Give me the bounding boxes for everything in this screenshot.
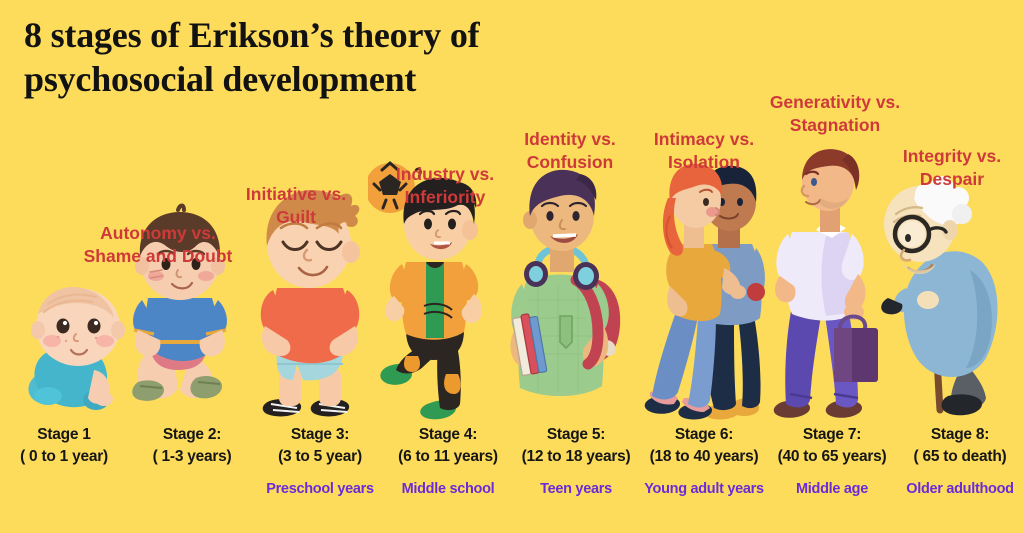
crisis-label-stage-5: Identity vs. Confusion — [500, 128, 640, 174]
stage-label-6: Stage 6: — [640, 424, 768, 446]
stage-age-2: ( 1-3 years) — [128, 446, 256, 468]
stage-cell-4: Stage 4: (6 to 11 years) — [384, 424, 512, 469]
figure-stage-3 — [247, 120, 375, 420]
stage-cell-5: Stage 5: (12 to 18 years) — [512, 424, 640, 469]
stage-label-3: Stage 3: — [256, 424, 384, 446]
stage-label-7: Stage 7: — [768, 424, 896, 446]
stage-label-5: Stage 5: — [512, 424, 640, 446]
stage-age-5: (12 to 18 years) — [512, 446, 640, 468]
figure-stage-2 — [118, 120, 246, 420]
stage-label-2: Stage 2: — [128, 424, 256, 446]
period-label-8: Older adulthood — [896, 480, 1024, 499]
period-label-5: Teen years — [512, 480, 640, 499]
figure-stage-1 — [8, 120, 136, 420]
middle-aged-man-icon — [768, 120, 896, 420]
stage-age-8: ( 65 to death) — [896, 446, 1024, 468]
stage-cell-3: Stage 3: (3 to 5 year) — [256, 424, 384, 469]
page-title: 8 stages of Erikson’s theory of psychoso… — [24, 14, 664, 102]
crawling-baby-icon — [8, 120, 136, 420]
period-label-2 — [128, 480, 256, 499]
stage-cell-2: Stage 2: ( 1-3 years) — [128, 424, 256, 469]
crisis-label-stage-4: Industry vs. Inferiority — [372, 163, 518, 209]
stage-cell-8: Stage 8: ( 65 to death) — [896, 424, 1024, 469]
period-label-4: Middle school — [384, 480, 512, 499]
stage-age-7: (40 to 65 years) — [768, 446, 896, 468]
period-label-6: Young adult years — [640, 480, 768, 499]
figure-stage-7 — [768, 120, 896, 420]
stage-label-row: Stage 1 ( 0 to 1 year) Stage 2: ( 1-3 ye… — [0, 424, 1024, 469]
stage-age-6: (18 to 40 years) — [640, 446, 768, 468]
crisis-label-stage-3: Initiative vs. Guilt — [217, 183, 375, 229]
period-label-1 — [0, 480, 128, 499]
stage-age-4: (6 to 11 years) — [384, 446, 512, 468]
period-label-7: Middle age — [768, 480, 896, 499]
sitting-toddler-icon — [118, 120, 246, 420]
stage-age-3: (3 to 5 year) — [256, 446, 384, 468]
stage-label-8: Stage 8: — [896, 424, 1024, 446]
stage-label-4: Stage 4: — [384, 424, 512, 446]
crisis-label-stage-8: Integrity vs. Despair — [880, 145, 1024, 191]
crisis-label-stage-7: Generativity vs. Stagnation — [740, 91, 930, 137]
stage-age-1: ( 0 to 1 year) — [0, 446, 128, 468]
stage-cell-6: Stage 6: (18 to 40 years) — [640, 424, 768, 469]
stage-cell-7: Stage 7: (40 to 65 years) — [768, 424, 896, 469]
period-label-row: Preschool years Middle school Teen years… — [0, 480, 1024, 499]
erikson-stages-infographic: 8 stages of Erikson’s theory of psychoso… — [0, 0, 1024, 533]
preschooler-icon — [247, 120, 375, 420]
period-label-3: Preschool years — [256, 480, 384, 499]
stage-label-1: Stage 1 — [0, 424, 128, 446]
stage-cell-1: Stage 1 ( 0 to 1 year) — [0, 424, 128, 469]
